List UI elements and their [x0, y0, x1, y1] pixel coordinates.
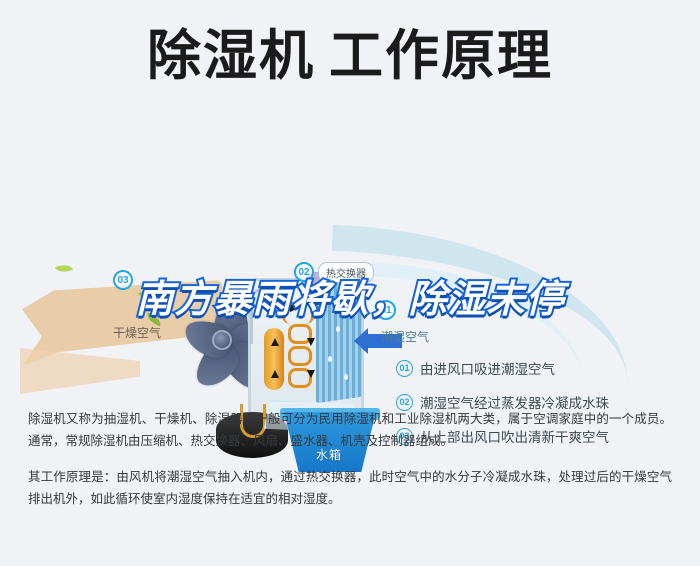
description-section: 除湿机又称为抽湿机、干燥机、除湿器，一般可分为民用除湿机和工业除湿机两大类，属于… — [0, 408, 700, 510]
water-droplet-icon — [348, 302, 352, 308]
page-title: 除湿机工作原理 — [0, 0, 700, 112]
flow-arrow-down-icon — [307, 370, 315, 378]
water-droplet-icon — [336, 326, 340, 332]
label-dry-air: 干燥空气 — [113, 324, 161, 341]
title-part-2: 工作原理 — [329, 26, 553, 86]
callout-heat-exchanger: 热交换器 — [318, 262, 374, 283]
title-part-1: 除湿机 — [147, 26, 315, 86]
description-paragraph-1: 除湿机又称为抽湿机、干燥机、除湿器，一般可分为民用除湿机和工业除湿机两大类，属于… — [28, 408, 672, 452]
water-droplet-icon — [322, 308, 326, 314]
coil-loop — [282, 302, 314, 324]
leaf-icon — [55, 261, 73, 275]
fan-hub — [212, 330, 232, 350]
badge-heat-exchanger: 02 — [294, 262, 314, 282]
legend-item: 01 由进风口吸进潮湿空气 — [396, 358, 686, 378]
legend-label: 由进风口吸进潮湿空气 — [420, 358, 555, 378]
description-paragraph-2: 其工作原理是：由风机将潮湿空气抽入机内，通过热交换器，此时空气中的水分子冷凝成水… — [28, 466, 672, 510]
legend-badge: 01 — [396, 360, 413, 377]
dehumidifier-diagram: 水箱 03 02 01 干燥空气 潮湿空气 热交换器 01 由进风口吸进潮湿空气… — [0, 112, 700, 407]
flow-arrow-right-icon — [290, 304, 298, 312]
water-droplet-icon — [328, 356, 332, 362]
flow-arrow-up-icon — [271, 338, 279, 346]
label-humid-air: 潮湿空气 — [381, 328, 429, 345]
dry-air-arrow-tail-icon — [20, 348, 140, 394]
badge-dry-air: 03 — [113, 270, 133, 290]
water-droplet-icon — [344, 374, 348, 380]
condenser-coil-assembly — [258, 298, 316, 408]
badge-humid-air: 01 — [376, 300, 396, 320]
flow-arrow-down-icon — [307, 338, 315, 346]
coil-loop — [288, 346, 312, 366]
flow-arrow-up-icon — [271, 370, 279, 378]
